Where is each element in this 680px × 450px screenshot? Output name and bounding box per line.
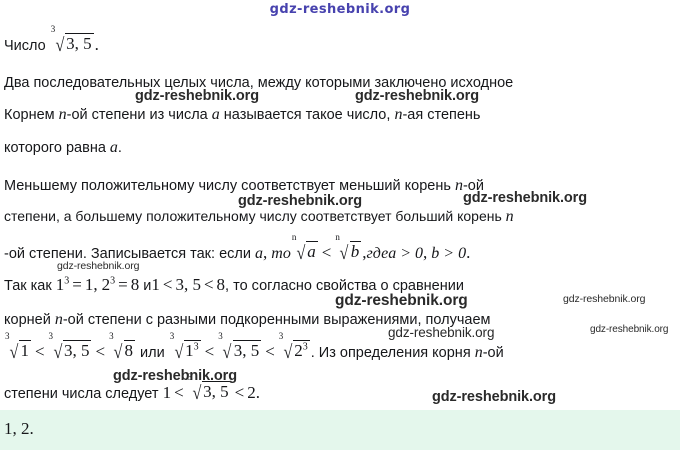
line1-suffix: .: [95, 35, 99, 54]
watermark-9: gdz-reshebnik.org: [113, 368, 237, 384]
lt-b: <: [201, 275, 217, 294]
radicand-exp: 3: [194, 341, 199, 352]
text-line-7: -ой степени. Записывается так: если a, т…: [4, 242, 470, 262]
text-line-6: степени, а большему положительному числу…: [4, 209, 514, 225]
cube-root-2-cubed: 3√23: [279, 341, 310, 361]
radicand-base: 2: [294, 341, 303, 360]
text-line-5: Меньшему положительному числу соответств…: [4, 178, 484, 194]
watermark-6: gdz-reshebnik.org: [563, 293, 645, 305]
line9-a: корней: [4, 312, 51, 328]
watermark-4: gdz-reshebnik.org: [57, 260, 139, 272]
line10-a: или: [140, 345, 165, 361]
radicand-1: 1: [19, 340, 31, 360]
line8-a: Так как: [4, 278, 52, 294]
less-than-1: <: [319, 243, 335, 262]
line11-b: .: [256, 383, 260, 402]
radical-sign: √: [293, 244, 305, 263]
line11-a: степени числа следует: [4, 386, 159, 402]
one-cubed: 13: [56, 275, 70, 294]
radical-sign: √: [171, 343, 183, 362]
root-index: 3: [218, 332, 223, 341]
cube-root-3-5-d: 3√3, 5: [188, 382, 231, 402]
line5-a: Меньшему положительному числу соответств…: [4, 178, 451, 194]
watermark-1: gdz-reshebnik.org: [355, 88, 479, 104]
lt-d: <: [92, 342, 108, 361]
val-8-b: 8: [217, 275, 226, 294]
line10-c: -ой: [483, 345, 504, 361]
a-gt-0: a > 0: [388, 245, 423, 262]
root-index: 3: [279, 332, 284, 341]
radicand: 3, 5: [65, 33, 94, 53]
val-2: 2: [247, 383, 256, 402]
lt-f: <: [262, 342, 278, 361]
root-index: 3: [170, 332, 175, 341]
lt-a: <: [160, 275, 176, 294]
root-index-n: n: [292, 233, 297, 242]
radical-sign: √: [280, 343, 292, 362]
watermark-8: gdz-reshebnik.org: [590, 324, 668, 335]
var-n-8: n: [475, 344, 483, 361]
line3-c: называется такое число,: [224, 107, 391, 123]
lt-e: <: [202, 342, 218, 361]
val-1-b: 1: [151, 275, 160, 294]
answer-value: 1, 2.: [4, 419, 34, 439]
root-index: 3: [49, 332, 54, 341]
line10-b: . Из определения корня: [311, 345, 471, 361]
radicand-exp: 3: [303, 341, 308, 352]
cube-root-8: 3√8: [109, 341, 135, 361]
lt-c: <: [32, 342, 48, 361]
val-1-c: 1: [163, 383, 172, 402]
watermark-5: gdz-reshebnik.org: [335, 292, 468, 310]
line4-b: .: [118, 140, 122, 156]
radical-sign: √: [6, 343, 18, 362]
text-line-10: 3√1 < 3√3, 5 < 3√8 или 3√13 < 3√3, 5 < 3…: [4, 341, 504, 361]
var-a-3: a: [110, 139, 118, 156]
solution-page: gdz-reshebnik.org Число 3√3, 5 . Два пос…: [0, 0, 680, 450]
watermark-2: gdz-reshebnik.org: [238, 193, 362, 209]
var-n-4: n: [455, 177, 463, 194]
radical-sign: √: [110, 343, 122, 362]
cube-root-3-5-c: 3√3, 5: [218, 341, 261, 361]
radical-sign: √: [336, 244, 348, 263]
radicand-base: 1: [185, 341, 194, 360]
var-n-5: n: [506, 208, 514, 225]
line7-end-dot: .: [466, 243, 470, 262]
one-base: 1: [56, 275, 65, 294]
text-line-3: Корнем n-ой степени из числа a называетс…: [4, 107, 480, 123]
root-index: 3: [5, 332, 10, 341]
line3-d: -ая степень: [402, 107, 480, 123]
radicand-b: b: [350, 241, 362, 261]
root-index: 3: [51, 25, 56, 34]
radicand-1-cubed: 13: [184, 340, 201, 360]
text-line-1: Число 3√3, 5 .: [4, 34, 99, 54]
radicand-3-5: 3, 5: [63, 340, 92, 360]
radical-sign: √: [52, 36, 64, 55]
line3-b: -ой степени из числа: [67, 107, 208, 123]
two-cubed: 23: [102, 275, 116, 294]
line7-b: ,: [263, 243, 267, 262]
line6-a: степени, а большему положительному числу…: [4, 208, 502, 224]
var-n-7: n: [55, 311, 63, 328]
radical-sign: √: [219, 343, 231, 362]
equals-2: =: [115, 275, 131, 294]
radicand-a: a: [306, 241, 318, 261]
var-a: a: [212, 106, 220, 123]
brand-watermark-top: gdz-reshebnik.org: [0, 2, 680, 17]
b-gt-0: b > 0: [431, 245, 466, 262]
two-base: 2: [102, 275, 111, 294]
val-3-5: 3, 5: [175, 275, 201, 294]
cube-root-1-cubed: 3√13: [170, 341, 201, 361]
watermark-10: gdz-reshebnik.org: [432, 389, 556, 405]
var-a-6: a: [255, 245, 263, 262]
radicand-2-cubed: 23: [293, 340, 310, 360]
text-line-8: Так как 13=1, 23=8 и1<3, 5<8, то согласн…: [4, 276, 464, 294]
text-line-11: степени числа следует 1< 3√3, 5 <2.: [4, 382, 260, 402]
radicand-8: 8: [124, 340, 136, 360]
line1-prefix: Число: [4, 38, 46, 54]
comma-1: ,: [93, 275, 97, 294]
nth-root-a: n√a: [292, 242, 318, 262]
line3-a: Корнем: [4, 107, 55, 123]
cube-root-1: 3√1: [5, 341, 31, 361]
answer-strip: [0, 410, 680, 450]
radicand-3-5: 3, 5: [233, 340, 262, 360]
nth-root-b: n√b: [335, 242, 361, 262]
line7-e: где: [367, 245, 389, 262]
watermark-0: gdz-reshebnik.org: [135, 88, 259, 104]
lt-g: <: [171, 383, 187, 402]
line4-a: которого равна: [4, 140, 106, 156]
watermark-7: gdz-reshebnik.org: [388, 325, 494, 340]
watermark-3: gdz-reshebnik.org: [463, 190, 587, 206]
cube-root-3-5: 3√3, 5: [51, 34, 94, 54]
line7-c: то: [271, 245, 291, 262]
root-index-n: n: [335, 233, 340, 242]
lt-h: <: [232, 383, 248, 402]
cube-root-3-5-b: 3√3, 5: [49, 341, 92, 361]
val-8: 8: [131, 275, 140, 294]
var-n: n: [59, 106, 67, 123]
root-index: 3: [109, 332, 114, 341]
equals-1: =: [69, 275, 85, 294]
sep-comma: ,: [423, 243, 427, 262]
text-line-4: которого равна a.: [4, 140, 122, 156]
radical-sign: √: [50, 343, 62, 362]
radical-sign: √: [189, 384, 201, 403]
